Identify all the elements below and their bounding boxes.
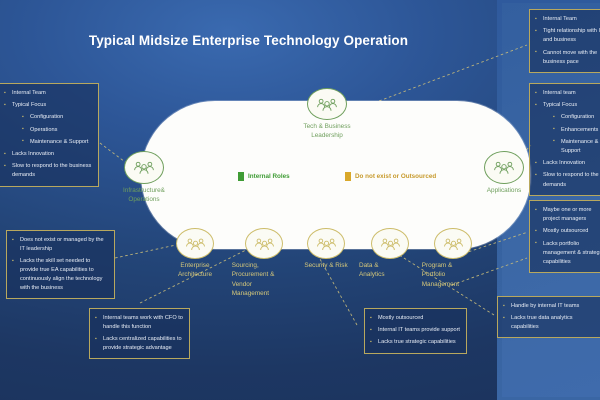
callout-bullet: Lacks Innovation: [4, 150, 92, 159]
node-bubble: [307, 228, 345, 259]
callout-sourcing-procurement: Internal teams work with CFO to handle t…: [89, 308, 190, 359]
callout-bullet: Mostly outsourced: [535, 227, 600, 236]
people-icon: [316, 237, 337, 251]
callout-program-portfolio: Maybe one or more project managers Mostl…: [529, 200, 600, 273]
people-icon: [254, 237, 275, 251]
node-label: Security & Risk: [293, 261, 359, 270]
callout-bullet: Slow to respond to the demands: [535, 171, 600, 189]
callout-list: Handle by internal IT teams Lacks true d…: [503, 302, 598, 332]
callout-list: Internal Team Tight relationship with IT…: [535, 15, 600, 67]
legend-swatch-outsourced-icon: [345, 172, 351, 181]
callout-security-risk: Mostly outsourced Internal IT teams prov…: [364, 308, 467, 354]
people-icon: [443, 237, 464, 251]
callout-list: Does not exist or managed by the IT lead…: [12, 236, 108, 293]
legend-label-internal: Internal Roles: [248, 173, 290, 180]
callout-bullet: Lacks true data analytics capabilities: [503, 314, 598, 332]
people-icon: [133, 160, 155, 175]
node-label: Enterprise Architecture: [158, 261, 232, 280]
callout-enterprise-architecture: Does not exist or managed by the IT lead…: [6, 230, 115, 299]
legend-swatch-internal-icon: [238, 172, 244, 181]
callout-bullet: Enhancements: [535, 126, 600, 135]
node-bubble: [484, 151, 524, 184]
callout-tech-business-leadership: Internal Team Tight relationship with IT…: [529, 9, 600, 73]
callout-list: Maybe one or more project managers Mostl…: [535, 206, 600, 267]
callout-list: Internal team Typical Focus Configuratio…: [535, 89, 600, 190]
people-icon: [380, 237, 401, 251]
callout-bullet: Internal Team: [4, 89, 92, 98]
callout-bullet: Internal Team: [535, 15, 600, 24]
callout-bullet: Maintenance & Support: [4, 138, 92, 147]
callout-bullet: Internal team: [535, 89, 600, 98]
node-enterprise-architecture[interactable]: Enterprise Architecture: [176, 228, 214, 259]
callout-list: Internal Team Typical Focus Configuratio…: [4, 89, 92, 181]
node-label: Data & Analytics: [359, 261, 415, 280]
callout-bullet: Configuration: [535, 113, 600, 122]
node-bubble: [371, 228, 409, 259]
node-label: Applications: [475, 186, 533, 195]
callout-bullet: Lacks the skill set needed to provide tr…: [12, 257, 108, 293]
node-sourcing-procurement-vendor-management[interactable]: Sourcing, Procurement & Vendor Managemen…: [245, 228, 283, 259]
callout-bullet: Does not exist or managed by the IT lead…: [12, 236, 108, 254]
callout-bullet: Operations: [4, 126, 92, 135]
callout-bullet: Cannot move with the business pace: [535, 49, 600, 67]
callout-bullet: Typical Focus: [4, 101, 92, 110]
callout-bullet: Slow to respond to the business demands: [4, 162, 92, 180]
people-icon: [316, 97, 338, 112]
node-label: Program & Portfolio Management: [422, 261, 480, 289]
node-label: Sourcing, Procurement & Vendor Managemen…: [232, 261, 292, 298]
callout-bullet: Mostly outsourced: [370, 314, 460, 323]
callout-data-analytics: Handle by internal IT teams Lacks true d…: [497, 296, 600, 338]
callout-bullet: Lacks portfolio management & strategic c…: [535, 240, 600, 267]
node-bubble: [307, 88, 347, 120]
page-title: Typical Midsize Enterprise Technology Op…: [0, 33, 497, 48]
callout-list: Mostly outsourced Internal IT teams prov…: [370, 314, 460, 348]
callout-applications: Internal team Typical Focus Configuratio…: [529, 83, 600, 196]
node-label: Tech & Business Leadership: [290, 122, 364, 141]
node-data-analytics[interactable]: Data & Analytics: [371, 228, 409, 259]
callout-bullet: Maintenance & Support: [535, 138, 600, 156]
node-security-risk[interactable]: Security & Risk: [307, 228, 345, 259]
callout-bullet: Maybe one or more project managers: [535, 206, 600, 224]
callout-infrastructure-operations: Internal Team Typical Focus Configuratio…: [0, 83, 99, 187]
people-icon: [493, 160, 515, 175]
callout-bullet: Lacks Innovation: [535, 159, 600, 168]
callout-bullet: Tight relationship with IT and business: [535, 27, 600, 45]
legend-item-outsourced: Do not exist or Outsourced: [345, 172, 436, 181]
node-infrastructure-operations[interactable]: Infrastructure& Operations: [124, 151, 164, 184]
node-applications[interactable]: Applications: [484, 151, 524, 184]
slide-canvas: Typical Midsize Enterprise Technology Op…: [0, 0, 600, 400]
node-tech-business-leadership[interactable]: Tech & Business Leadership: [307, 88, 347, 120]
callout-bullet: Configuration: [4, 113, 92, 122]
node-bubble: [176, 228, 214, 259]
callout-bullet: Handle by internal IT teams: [503, 302, 598, 311]
callout-bullet: Internal teams work with CFO to handle t…: [95, 314, 183, 332]
node-bubble: [245, 228, 283, 259]
node-bubble: [434, 228, 472, 259]
callout-bullet: Internal IT teams provide support: [370, 326, 460, 335]
people-icon: [185, 237, 206, 251]
callout-bullet: Typical Focus: [535, 101, 600, 110]
callout-bullet: Lacks true strategic capabilities: [370, 338, 460, 347]
node-label: Infrastructure& Operations: [115, 186, 173, 205]
node-bubble: [124, 151, 164, 184]
node-program-portfolio-management[interactable]: Program & Portfolio Management: [434, 228, 472, 259]
callout-list: Internal teams work with CFO to handle t…: [95, 314, 183, 353]
legend-label-outsourced: Do not exist or Outsourced: [355, 173, 436, 180]
callout-bullet: Lacks centralized capabilities to provid…: [95, 335, 183, 353]
legend-item-internal-roles: Internal Roles: [238, 172, 290, 181]
